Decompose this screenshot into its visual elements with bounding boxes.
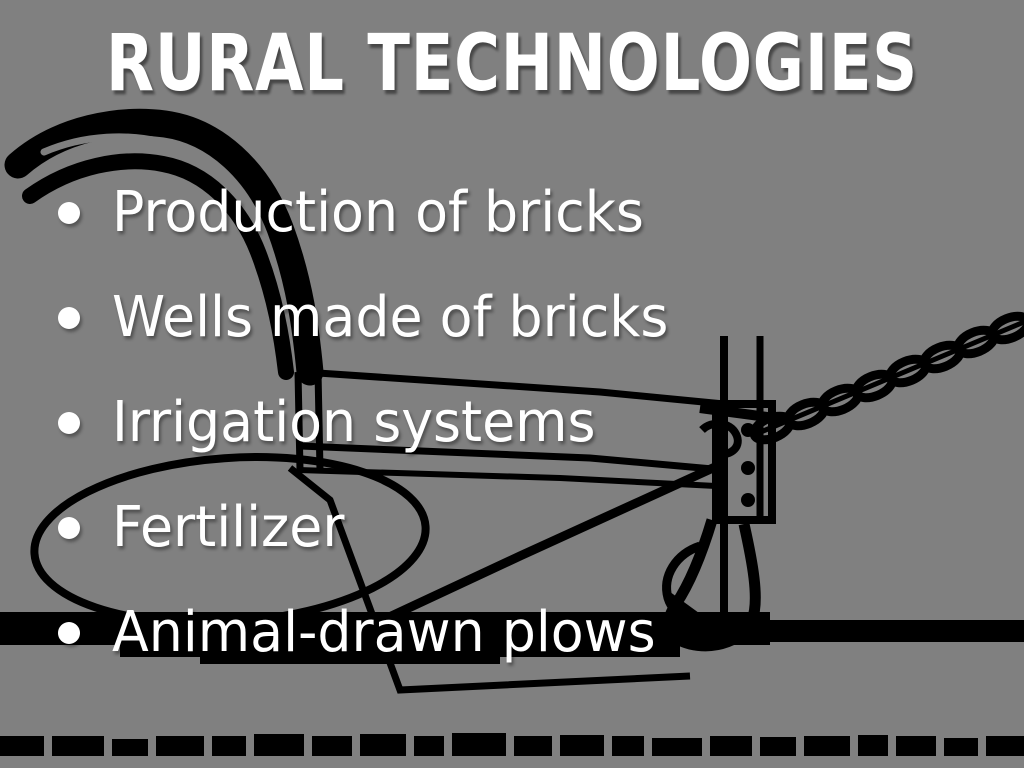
- bullet-label: Fertilizer: [112, 497, 344, 559]
- bullet-item-5: Animal-drawn plows: [58, 580, 998, 685]
- slide-title: RURAL TECHNOLOGIES: [102, 22, 921, 106]
- bullet-label: Wells made of bricks: [112, 287, 668, 349]
- bullet-item-2: Wells made of bricks: [58, 265, 998, 370]
- plow-handle-gap: [44, 137, 162, 152]
- dashed-furrow-band: [0, 733, 1024, 756]
- bullet-dot-icon: [58, 622, 80, 644]
- bullet-item-1: Production of bricks: [58, 160, 998, 265]
- bullet-label: Animal-drawn plows: [112, 602, 656, 664]
- bullet-dot-icon: [58, 412, 80, 434]
- bullet-dot-icon: [58, 307, 80, 329]
- bullet-list: Production of bricks Wells made of brick…: [58, 160, 998, 685]
- bullet-dot-icon: [58, 517, 80, 539]
- bullet-label: Irrigation systems: [112, 392, 596, 454]
- bullet-label: Production of bricks: [112, 182, 644, 244]
- bullet-dot-icon: [58, 202, 80, 224]
- bullet-item-4: Fertilizer: [58, 475, 998, 580]
- presentation-slide: RURAL TECHNOLOGIES Production of bricks …: [0, 0, 1024, 768]
- bullet-item-3: Irrigation systems: [58, 370, 998, 475]
